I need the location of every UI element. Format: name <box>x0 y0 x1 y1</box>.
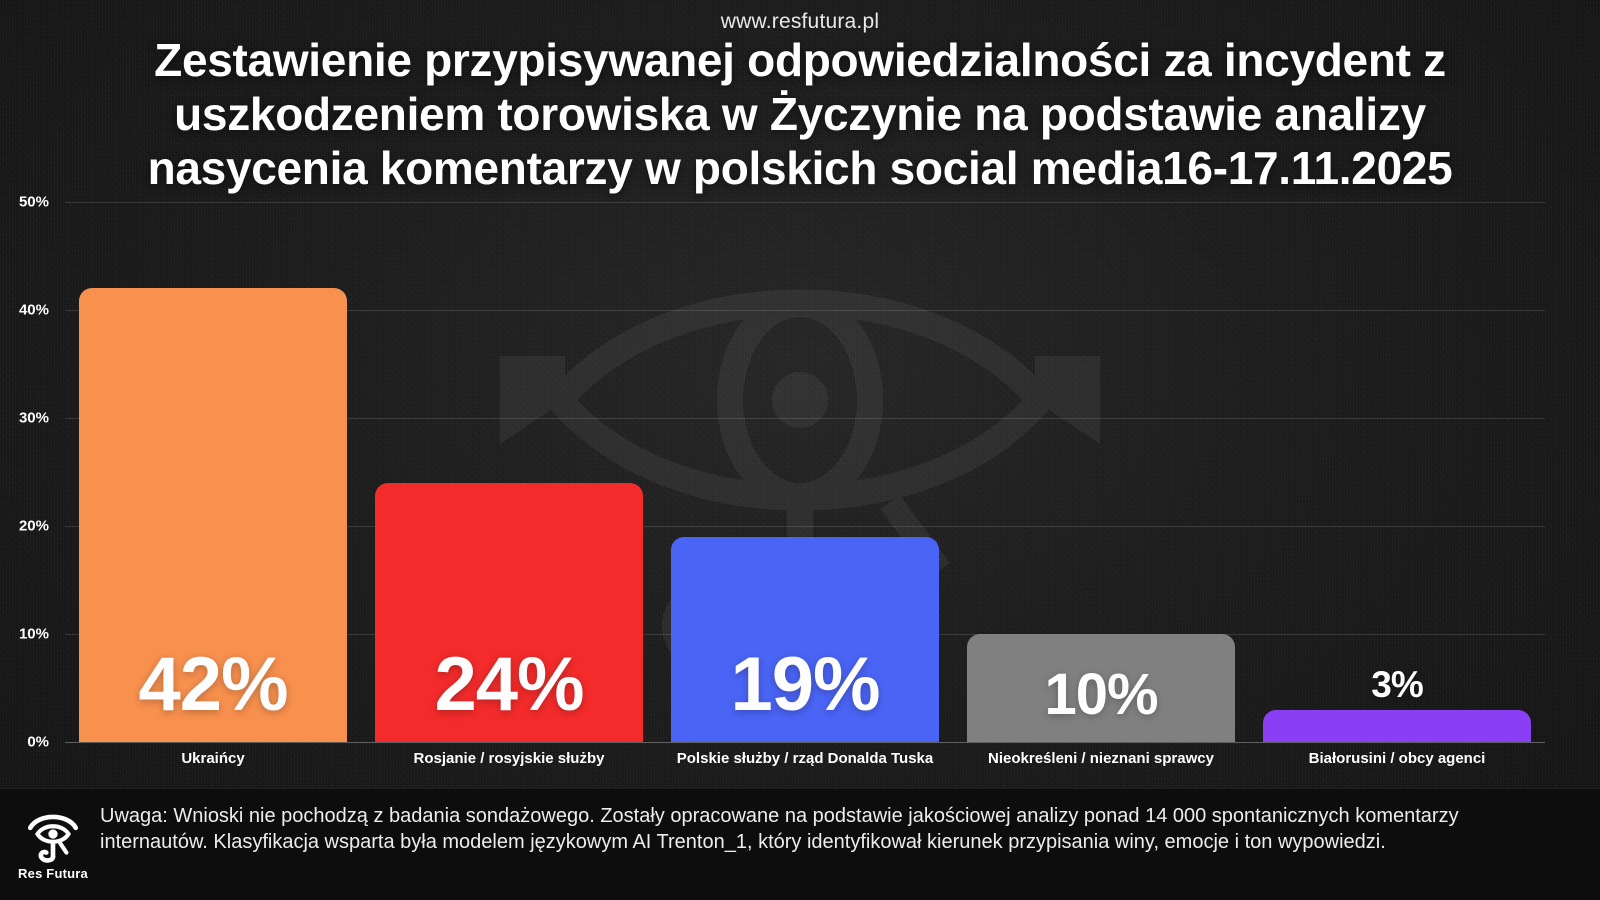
bar[interactable]: 24% <box>375 483 643 742</box>
bar-group[interactable]: 3%Białorusini / obcy agenci <box>1263 202 1531 742</box>
bar-group[interactable]: 19%Polskie służby / rząd Donalda Tuska <box>671 202 939 742</box>
bars-group: 42%Ukraińcy24%Rosjanie / rosyjskie służb… <box>65 202 1545 742</box>
footnote-text: Uwaga: Wnioski nie pochodzą z badania so… <box>100 803 1540 856</box>
bar[interactable]: 42% <box>79 288 347 742</box>
x-axis-category-label: Białorusini / obcy agenci <box>1223 750 1571 767</box>
chart-plot-area: 0%10%20%30%40%50% 42%Ukraińcy24%Rosjanie… <box>65 202 1545 742</box>
bar-group[interactable]: 24%Rosjanie / rosyjskie służby <box>375 202 643 742</box>
infographic-canvas: www.resfutura.pl Zestawienie przypisywan… <box>0 0 1600 900</box>
brand-name: Res Futura <box>18 866 88 881</box>
page-title: Zestawienie przypisywanej odpowiedzialno… <box>90 34 1510 195</box>
gridline <box>65 742 1545 743</box>
bar[interactable]: 19% <box>671 537 939 742</box>
bar-value-label: 19% <box>671 641 939 728</box>
bar-value-label: 42% <box>79 641 347 728</box>
y-axis-tick-label: 10% <box>19 626 63 643</box>
bar[interactable]: 3% <box>1263 710 1531 742</box>
y-axis-tick-label: 0% <box>27 734 63 751</box>
bar-value-label: 3% <box>1263 664 1531 706</box>
bar-value-label: 10% <box>967 661 1235 728</box>
brand-logo: Res Futura <box>14 805 92 881</box>
footer-note-bar: Res Futura Uwaga: Wnioski nie pochodzą z… <box>0 788 1600 900</box>
bar-value-label: 24% <box>375 641 643 728</box>
bar-group[interactable]: 10%Nieokreśleni / nieznani sprawcy <box>967 202 1235 742</box>
y-axis-tick-label: 30% <box>19 410 63 427</box>
y-axis-tick-label: 40% <box>19 302 63 319</box>
bar-group[interactable]: 42%Ukraińcy <box>79 202 347 742</box>
bar[interactable]: 10% <box>967 634 1235 742</box>
y-axis-tick-label: 50% <box>19 194 63 211</box>
y-axis-tick-label: 20% <box>19 518 63 535</box>
site-url: www.resfutura.pl <box>0 10 1600 34</box>
